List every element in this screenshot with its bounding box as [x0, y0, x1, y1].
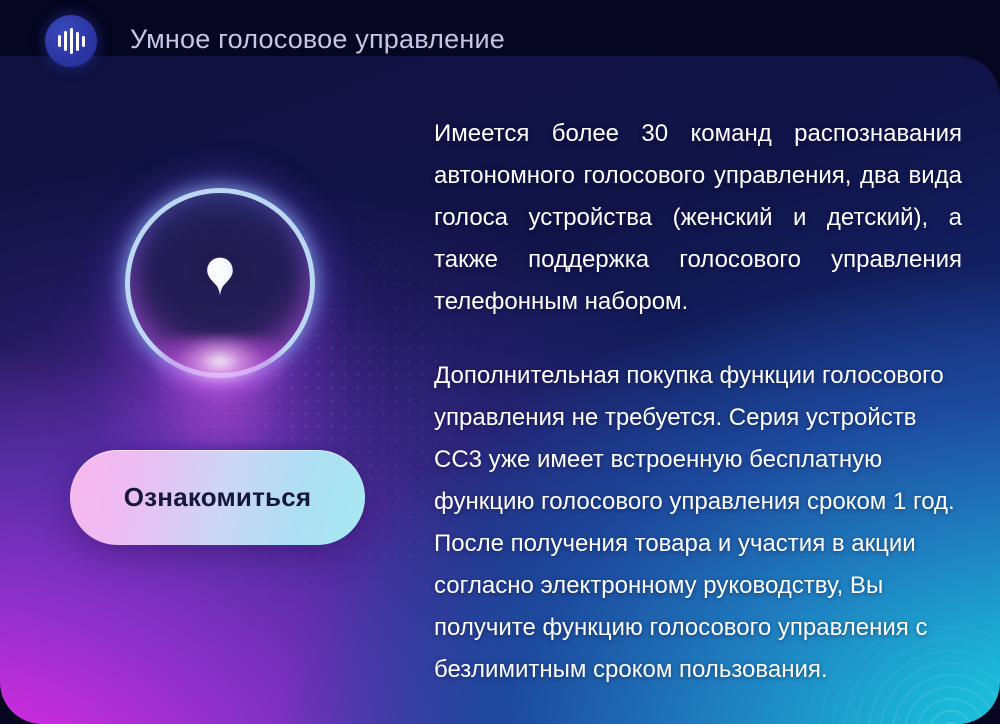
promo-banner: Умное голосовое управление Ознакомиться …	[0, 0, 1000, 724]
voice-droplet-pin-icon	[205, 256, 235, 298]
waveform-bar-1	[58, 35, 61, 47]
orb-bottom-flare	[153, 336, 287, 400]
description-paragraph-1: Имеется более 30 команд распознавания ав…	[434, 113, 962, 323]
page-title: Умное голосовое управление	[130, 24, 505, 55]
waveform-bar-2	[64, 31, 67, 51]
voice-waveform-icon	[45, 15, 97, 67]
description-paragraph-2: Дополнительная покупка функции голосовог…	[434, 355, 962, 691]
banner-header: Умное голосовое управление	[0, 0, 1000, 84]
voice-assistant-orb-icon	[125, 188, 315, 378]
waveform-bar-4	[76, 32, 79, 51]
waveform-bar-3	[70, 28, 73, 54]
description-text-block: Имеется более 30 команд распознавания ав…	[434, 113, 962, 691]
learn-more-button[interactable]: Ознакомиться	[70, 450, 365, 545]
waveform-bar-5	[82, 36, 85, 47]
